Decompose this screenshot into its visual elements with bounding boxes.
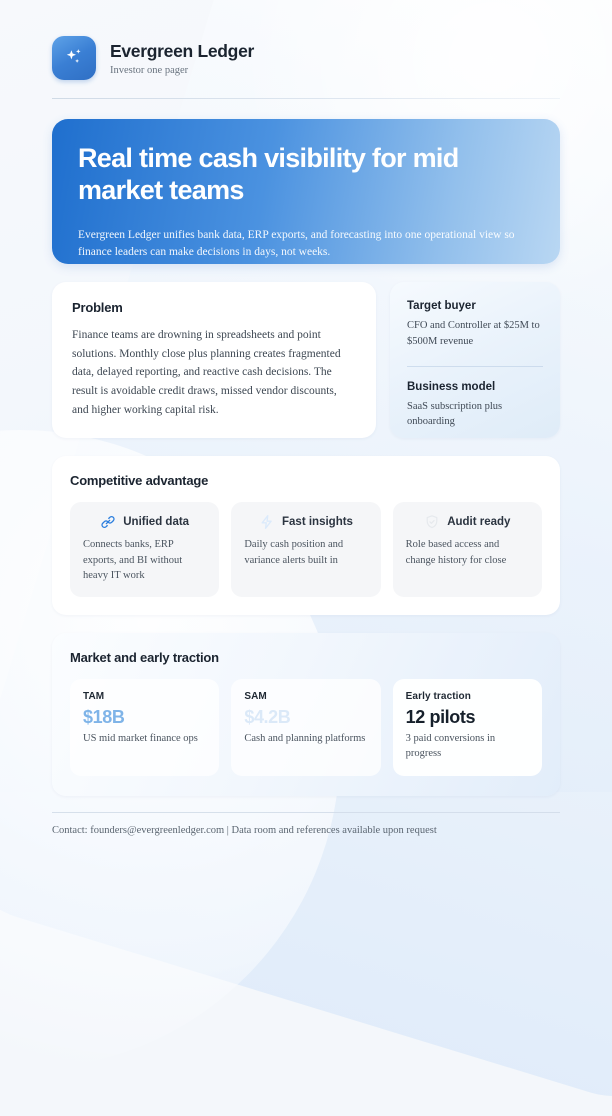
advantage-tile-text: Daily cash position and variance alerts … [244, 537, 367, 568]
market-tile-value: 12 pilots [406, 708, 529, 728]
business-model-text: SaaS subscription plus onboarding [407, 399, 543, 431]
market-traction-card: Market and early traction TAM $18B US mi… [52, 633, 560, 797]
market-tile-label: Early traction [406, 691, 529, 702]
market-tile-label: SAM [244, 691, 367, 702]
competitive-advantage-title: Competitive advantage [70, 473, 542, 488]
advantage-tile-header: Unified data [83, 514, 206, 530]
advantage-tile-text: Role based access and change history for… [406, 537, 529, 568]
document-header: Evergreen Ledger Investor one pager [52, 36, 560, 98]
advantage-tile-text: Connects banks, ERP exports, and BI with… [83, 537, 206, 584]
competitive-advantage-card: Competitive advantage Unified data Conne… [52, 456, 560, 615]
problem-card-text: Finance teams are drowning in spreadshee… [72, 326, 356, 419]
market-tile-sam: SAM $4.2B Cash and planning platforms [231, 679, 380, 777]
hero-subheadline: Evergreen Ledger unifies bank data, ERP … [78, 227, 534, 262]
target-buyer-block: Target buyer CFO and Controller at $25M … [407, 300, 543, 350]
business-model-title: Business model [407, 381, 543, 393]
market-tile-note: Cash and planning platforms [244, 732, 367, 747]
market-tile-label: TAM [83, 691, 206, 702]
problem-card-title: Problem [72, 300, 356, 315]
advantage-tile-header: Audit ready [406, 514, 529, 530]
market-tile-early-traction: Early traction 12 pilots 3 paid conversi… [393, 679, 542, 777]
sparkles-icon [62, 46, 86, 70]
advantage-tile-fast-insights: Fast insights Daily cash position and va… [231, 502, 380, 597]
lightning-bolt-icon [259, 514, 275, 530]
market-tile-tam: TAM $18B US mid market finance ops [70, 679, 219, 777]
footer-contact-text: Contact: founders@evergreenledger.com | … [52, 825, 560, 836]
market-tile-value: $4.2B [244, 708, 367, 728]
brand-text-group: Evergreen Ledger Investor one pager [110, 41, 254, 76]
one-pager-document: Evergreen Ledger Investor one pager Real… [0, 0, 612, 792]
advantage-tile-name: Unified data [123, 516, 189, 528]
advantage-tile-audit-ready: Audit ready Role based access and change… [393, 502, 542, 597]
side-card-divider [407, 366, 543, 367]
brand-logo [52, 36, 96, 80]
shield-check-icon [424, 514, 440, 530]
hero-headline: Real time cash visibility for mid market… [78, 143, 534, 207]
problem-row: Problem Finance teams are drowning in sp… [52, 282, 560, 438]
side-info-card: Target buyer CFO and Controller at $25M … [390, 282, 560, 438]
advantage-tile-name: Audit ready [447, 516, 510, 528]
business-model-block: Business model SaaS subscription plus on… [407, 381, 543, 431]
market-tile-note: US mid market finance ops [83, 732, 206, 747]
page-title: Evergreen Ledger [110, 41, 254, 62]
problem-card: Problem Finance teams are drowning in sp… [52, 282, 376, 438]
market-tile-value: $18B [83, 708, 206, 728]
hero-banner: Real time cash visibility for mid market… [52, 119, 560, 264]
market-tile-note: 3 paid conversions in progress [406, 732, 529, 762]
target-buyer-title: Target buyer [407, 300, 543, 312]
footer-divider [52, 812, 560, 813]
page-subtitle: Investor one pager [110, 65, 254, 76]
link-icon [100, 514, 116, 530]
advantage-tile-list: Unified data Connects banks, ERP exports… [70, 502, 542, 597]
advantage-tile-header: Fast insights [244, 514, 367, 530]
target-buyer-text: CFO and Controller at $25M to $500M reve… [407, 318, 543, 350]
header-divider [52, 98, 560, 99]
market-traction-title: Market and early traction [70, 650, 542, 665]
advantage-tile-name: Fast insights [282, 516, 353, 528]
market-tile-list: TAM $18B US mid market finance ops SAM $… [70, 679, 542, 777]
advantage-tile-unified-data: Unified data Connects banks, ERP exports… [70, 502, 219, 597]
